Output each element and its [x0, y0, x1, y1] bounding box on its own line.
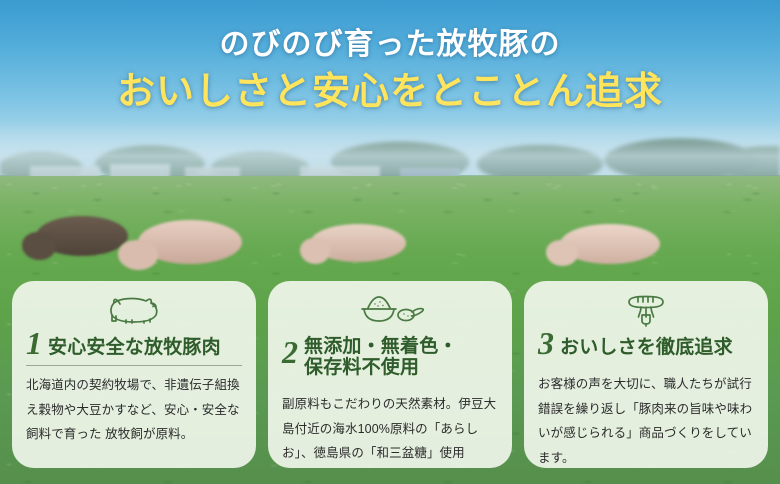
pig-icon [26, 293, 242, 327]
feature-cards: 1 安心安全な放牧豚肉 北海道内の契約牧場で、非遺伝子組換え穀物や大豆かすなど、… [12, 281, 768, 468]
horizon-haze [0, 120, 780, 180]
card-3-body: お客様の声を大切に、職人たちが試行錯誤を繰り返し「豚肉来の旨味や味わいが感じられ… [538, 372, 754, 470]
card-1-divider [26, 365, 242, 366]
card-3-title-row: 3 おいしさを徹底追求 [538, 329, 754, 358]
sausage-fork-icon [538, 293, 754, 327]
salt-bowl-icon [282, 293, 498, 325]
feature-card-1[interactable]: 1 安心安全な放牧豚肉 北海道内の契約牧場で、非遺伝子組換え穀物や大豆かすなど、… [12, 281, 256, 468]
card-1-heading: 安心安全な放牧豚肉 [48, 337, 221, 358]
card-2-heading: 無添加・無着色・ 保存料不使用 [304, 336, 458, 379]
headline-line-2: おいしさと安心をとことん追求 [0, 68, 780, 117]
card-2-heading-line-1: 無添加・無着色・ [304, 336, 458, 357]
feature-card-2[interactable]: 2 無添加・無着色・ 保存料不使用 副原料もこだわりの天然素材。伊豆大島付近の海… [268, 281, 512, 468]
headline-line-1: のびのび育った放牧豚の [0, 26, 780, 64]
pig-photo-1 [22, 212, 132, 264]
card-1-body: 北海道内の契約牧場で、非遺伝子組換え穀物や大豆かすなど、安心・安全な飼料で育った… [26, 373, 242, 446]
promo-banner: のびのび育った放牧豚の おいしさと安心をとことん追求 1 安心安全な放牧豚肉 北… [0, 0, 780, 484]
feature-card-3[interactable]: 3 おいしさを徹底追求 お客様の声を大切に、職人たちが試行錯誤を繰り返し「豚肉来… [524, 281, 768, 468]
pig-photo-4 [546, 222, 666, 272]
card-2-heading-line-2: 保存料不使用 [304, 357, 419, 378]
pig-photo-3 [300, 222, 412, 270]
card-2-title-row: 2 無添加・無着色・ 保存料不使用 [282, 327, 498, 378]
card-2-body: 副原料もこだわりの天然素材。伊豆大島付近の海水100%原料の「あらしお」、徳島県… [282, 392, 498, 465]
pig-photo-2 [118, 218, 248, 274]
card-2-number: 2 [282, 327, 298, 378]
card-3-number: 3 [538, 329, 554, 358]
card-3-heading: おいしさを徹底追求 [560, 337, 733, 358]
card-1-number: 1 [26, 329, 42, 358]
card-1-title-row: 1 安心安全な放牧豚肉 [26, 329, 242, 358]
headline: のびのび育った放牧豚の おいしさと安心をとことん追求 [0, 26, 780, 117]
